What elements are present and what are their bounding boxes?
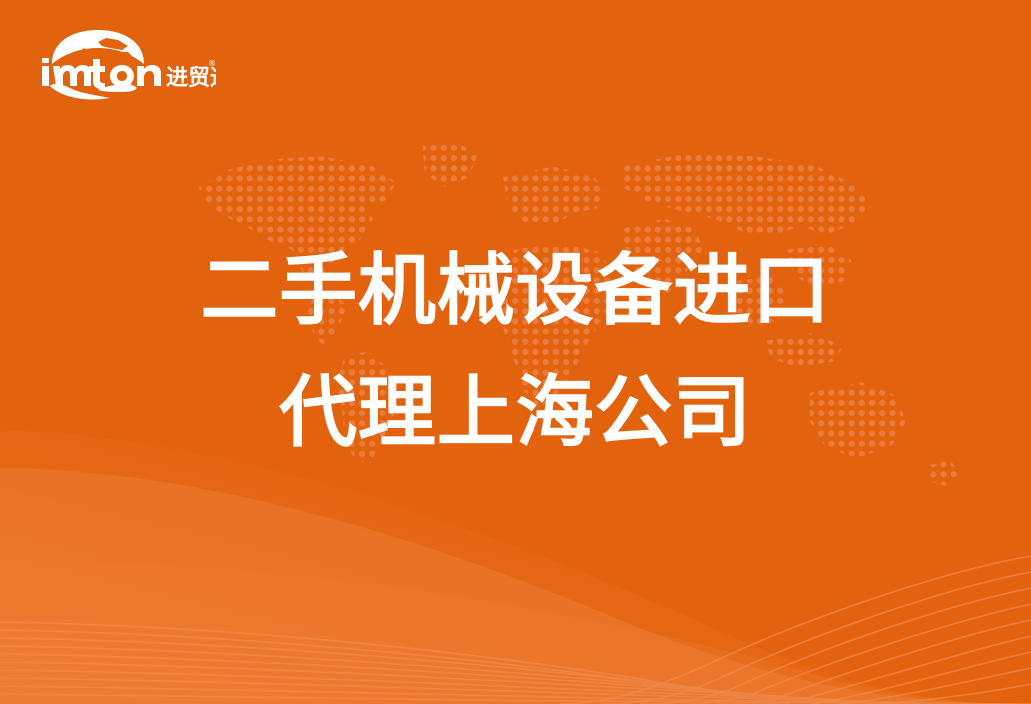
brand-logo[interactable]: 进贸通 ® (36, 28, 216, 100)
promo-banner: 进贸通 ® 二手机械设备进口 代理上海公司 (0, 0, 1031, 704)
headline-line-1: 二手机械设备进口 (0, 244, 1031, 336)
logo-chinese-text: 进贸通 (166, 66, 216, 91)
globe-icon (52, 30, 144, 64)
headline-block: 二手机械设备进口 代理上海公司 (0, 244, 1031, 458)
chinese-name-mark: 进贸通 ® (166, 59, 216, 91)
trademark-icon: ® (208, 59, 216, 68)
headline-line-2: 代理上海公司 (0, 366, 1031, 458)
